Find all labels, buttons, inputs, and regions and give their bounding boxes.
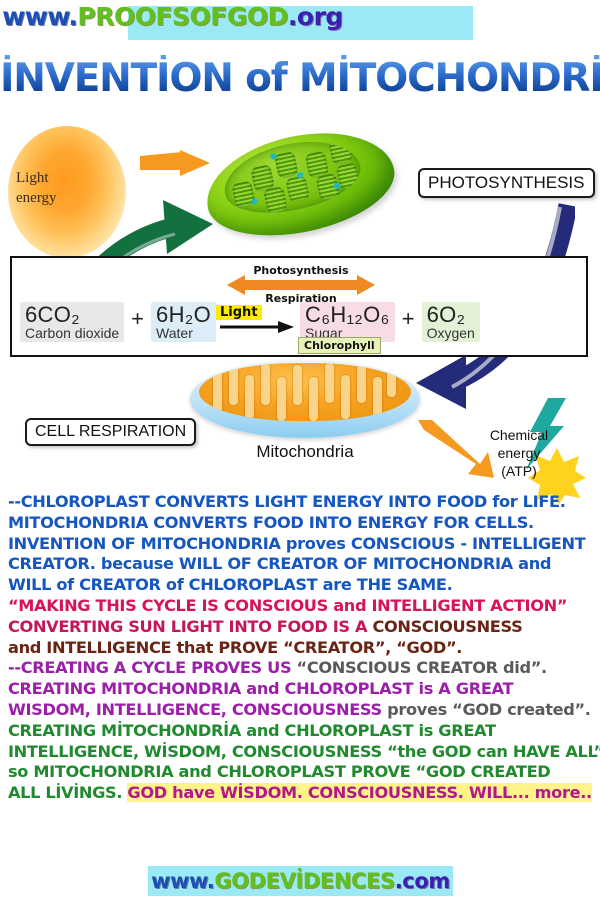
- argument-line: CREATING MITOCHONDRIA and CHLOROPLAST is…: [8, 679, 600, 700]
- reaction-arrow-group: Light: [216, 302, 300, 321]
- argument-line-segment: WISDOM, INTELLIGENCE, CONSCIOUSNESS: [8, 700, 387, 719]
- argument-line-segment: INVENTION OF MITOCHONDRIA proves CONSCIO…: [8, 534, 585, 553]
- photosynthesis-label-box: PHOTOSYNTHESIS: [418, 168, 595, 198]
- argument-line-segment: INTELLIGENCE, WİSDOM, CONSCIOUSNESS “the…: [8, 742, 600, 761]
- light-chip-label: Light: [216, 305, 262, 320]
- chlorophyll-chip-label: Chlorophyll: [298, 337, 381, 354]
- argument-line-segment: MITOCHONDRIA CONVERTS FOOD INTO ENERGY F…: [8, 513, 534, 532]
- granum: [285, 175, 310, 203]
- crista: [261, 363, 270, 405]
- crista: [293, 365, 302, 405]
- site-url-domain: PROOFSOFGOD: [77, 2, 288, 31]
- crista: [341, 375, 350, 419]
- argument-line-segment: so MITOCHONDRIA and CHLOROPLAST PROVE “G…: [8, 762, 550, 781]
- crista: [357, 365, 366, 403]
- sugar-formula: C₆H₁₂O₆: [305, 302, 390, 327]
- co2-name: Carbon dioxide: [25, 326, 119, 341]
- argument-line: and INTELLIGENCE that PROVE “CREATOR”, “…: [8, 638, 600, 659]
- argument-text-block: --CHLOROPLAST CONVERTS LIGHT ENERGY INTO…: [8, 492, 600, 804]
- footer-url-link[interactable]: www.GODEVİDENCES.com: [148, 866, 453, 896]
- crista: [309, 377, 318, 421]
- equation-arrow-row: Photosynthesis Respiration: [12, 262, 590, 304]
- chloroplast-icon: [205, 128, 395, 236]
- argument-line: WILL of CREATOR of CHLOROPLAST are THE S…: [8, 575, 600, 596]
- crista: [387, 367, 396, 397]
- crista: [245, 375, 254, 419]
- granum: [274, 151, 299, 179]
- argument-line: ALL LİVİNGS. GOD have WİSDOM. CONSCIOUSN…: [8, 783, 600, 804]
- mitochondria-matrix: [199, 363, 411, 421]
- argument-line-segment: --CHLOROPLAST CONVERTS LIGHT ENERGY INTO…: [8, 492, 566, 511]
- argument-line: CREATING MİTOCHONDRİA and CHLOROPLAST is…: [8, 721, 600, 742]
- argument-line-segment: --CREATING A CYCLE PROVES US: [8, 658, 297, 677]
- photosynthesis-equation-box: Photosynthesis Respiration 6CO₂ Carbon d…: [10, 256, 588, 357]
- reaction-arrow-icon: [220, 321, 294, 333]
- argument-line-segment: CREATOR. because WILL OF CREATOR OF MITO…: [8, 554, 551, 573]
- argument-line-segment: CONVERTING SUN LIGHT INTO FOOD IS A: [8, 617, 372, 636]
- site-url-www: www.: [2, 2, 77, 31]
- o2-formula: 6O₂: [427, 302, 466, 327]
- argument-line-segment: CREATING MİTOCHONDRİA and CHLOROPLAST is…: [8, 721, 496, 740]
- crista: [213, 371, 222, 415]
- chemical-energy-line3: (ATP): [478, 462, 560, 480]
- argument-line-segment: and INTELLIGENCE that PROVE “CREATOR”, “…: [8, 638, 462, 657]
- o2-name: Oxygen: [427, 326, 475, 341]
- h2o-formula: 6H₂O: [156, 302, 211, 327]
- co2-formula: 6CO₂: [25, 302, 80, 327]
- argument-line: INVENTION OF MITOCHONDRIA proves CONSCIO…: [8, 534, 600, 555]
- chemical-energy-line1: Chemical: [478, 426, 560, 444]
- argument-line: CREATOR. because WILL OF CREATOR OF MITO…: [8, 554, 600, 575]
- crista: [373, 377, 382, 417]
- crista: [325, 363, 334, 403]
- biology-diagram: Light energy: [0, 108, 600, 493]
- equation-plus-1: +: [124, 302, 151, 332]
- equation-plus-2: +: [395, 302, 422, 332]
- crista: [229, 365, 238, 405]
- site-url-tld: .org: [288, 2, 343, 31]
- chemical-energy-label: Chemical energy (ATP): [478, 426, 560, 480]
- argument-line-segment: WILL of CREATOR of CHLOROPLAST are THE S…: [8, 575, 452, 594]
- argument-line: --CREATING A CYCLE PROVES US “CONSCIOUS …: [8, 658, 600, 679]
- argument-line-segment: “CONSCIOUS CREATOR did”.: [297, 658, 547, 677]
- poster-page: www.PROOFSOFGOD.org İNVENTİON of MİTOCHO…: [0, 0, 600, 900]
- argument-line-segment: CREATING MITOCHONDRIA and CHLOROPLAST is…: [8, 679, 513, 698]
- argument-line: MITOCHONDRIA CONVERTS FOOD INTO ENERGY F…: [8, 513, 600, 534]
- argument-line: CONVERTING SUN LIGHT INTO FOOD IS A CONS…: [8, 617, 600, 638]
- argument-line-segment: CONSCIOUSNESS: [372, 617, 522, 636]
- equation-term-o2: 6O₂ Oxygen: [422, 302, 480, 342]
- argument-line-segment: GOD have WİSDOM. CONSCIOUSNESS. WILL... …: [127, 783, 591, 802]
- argument-line: “MAKING THIS CYCLE IS CONSCIOUS and INTE…: [8, 596, 600, 617]
- argument-line: INTELLIGENCE, WİSDOM, CONSCIOUSNESS “the…: [8, 742, 600, 763]
- granum: [263, 186, 288, 214]
- equation-term-co2: 6CO₂ Carbon dioxide: [20, 302, 124, 342]
- mitochondria-icon: [190, 360, 420, 440]
- footer-url-domain: GODEVİDENCES: [214, 869, 394, 893]
- equation-term-h2o: 6H₂O Water: [151, 302, 216, 342]
- footer-url-www: www.: [151, 869, 214, 893]
- crista: [277, 377, 286, 421]
- site-url-link[interactable]: www.PROOFSOFGOD.org: [0, 0, 345, 34]
- mitochondria-label: Mitochondria: [190, 442, 420, 462]
- argument-line-segment: “MAKING THIS CYCLE IS CONSCIOUS and INTE…: [8, 596, 567, 615]
- cell-respiration-label-box: CELL RESPIRATION: [25, 418, 196, 446]
- argument-line: WISDOM, INTELLIGENCE, CONSCIOUSNESS prov…: [8, 700, 600, 721]
- footer-url-tld: .com: [395, 869, 450, 893]
- h2o-name: Water: [156, 326, 211, 341]
- argument-line-segment: proves “GOD created”.: [387, 700, 590, 719]
- chemical-energy-line2: energy: [478, 444, 560, 462]
- argument-line: --CHLOROPLAST CONVERTS LIGHT ENERGY INTO…: [8, 492, 600, 513]
- argument-line-segment: ALL LİVİNGS.: [8, 783, 127, 802]
- page-title: İNVENTİON of MİTOCHONDRİA: [0, 55, 600, 103]
- argument-line: so MITOCHONDRIA and CHLOROPLAST PROVE “G…: [8, 762, 600, 783]
